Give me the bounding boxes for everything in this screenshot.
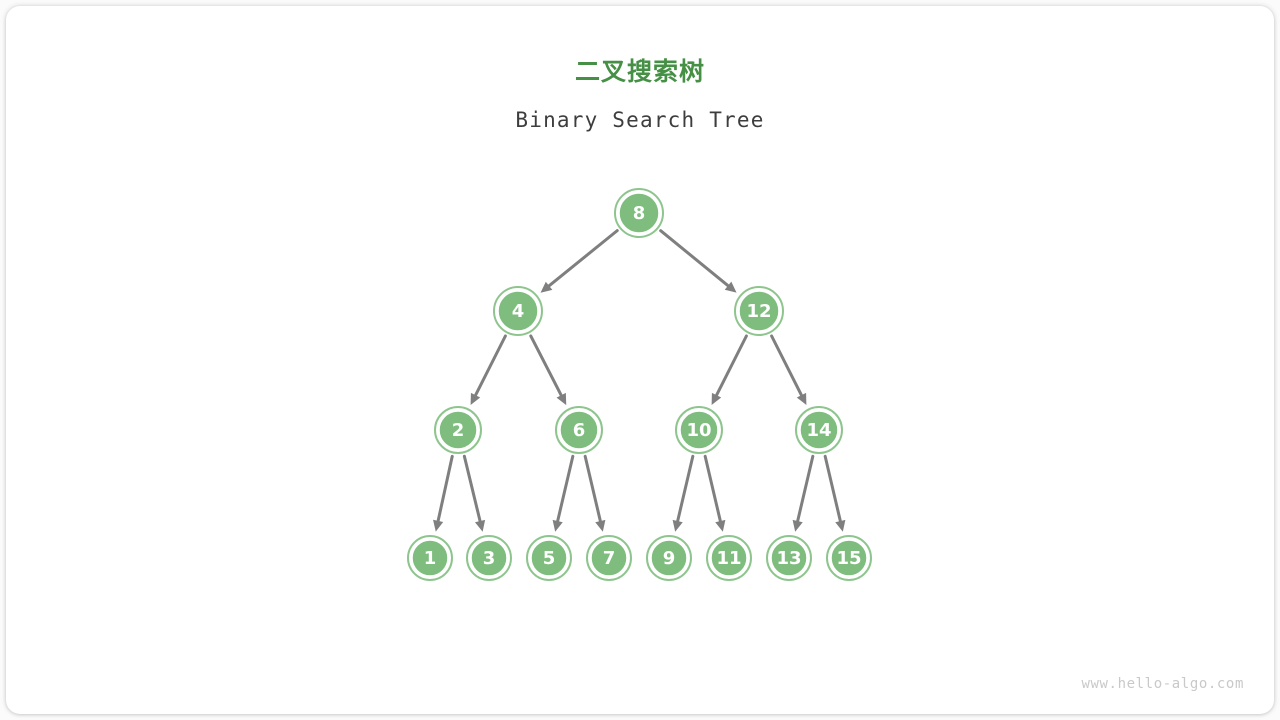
tree-edge bbox=[825, 456, 845, 531]
tree-node-13[interactable]: 13 bbox=[767, 536, 811, 580]
tree-node-label: 1 bbox=[424, 548, 437, 569]
tree-edge bbox=[433, 456, 452, 531]
tree-node-4[interactable]: 4 bbox=[494, 287, 542, 335]
tree-edge bbox=[471, 336, 506, 405]
tree-edges-layer bbox=[433, 231, 845, 532]
tree-node-7[interactable]: 7 bbox=[587, 536, 631, 580]
tree-node-label: 10 bbox=[686, 420, 711, 441]
tree-edge bbox=[464, 456, 485, 532]
tree-edge bbox=[541, 231, 618, 293]
tree-node-label: 11 bbox=[716, 548, 741, 569]
tree-node-label: 6 bbox=[573, 420, 586, 441]
tree-edge bbox=[793, 456, 813, 531]
tree-node-label: 4 bbox=[512, 301, 525, 322]
tree-node-label: 13 bbox=[776, 548, 801, 569]
tree-edge bbox=[585, 456, 605, 531]
tree-node-label: 8 bbox=[633, 203, 646, 224]
tree-node-12[interactable]: 12 bbox=[735, 287, 783, 335]
tree-edge bbox=[772, 336, 807, 405]
tree-node-label: 15 bbox=[836, 548, 861, 569]
tree-edge-arrowhead bbox=[475, 520, 485, 532]
tree-node-label: 3 bbox=[483, 548, 496, 569]
binary-search-tree-diagram: 841226101413579111315 bbox=[0, 0, 1280, 720]
tree-node-5[interactable]: 5 bbox=[527, 536, 571, 580]
tree-node-3[interactable]: 3 bbox=[467, 536, 511, 580]
tree-node-15[interactable]: 15 bbox=[827, 536, 871, 580]
tree-edge-arrowhead bbox=[595, 520, 605, 532]
tree-edge bbox=[553, 456, 573, 531]
tree-node-label: 12 bbox=[746, 301, 771, 322]
tree-edge-arrowhead bbox=[715, 520, 725, 532]
tree-node-8[interactable]: 8 bbox=[615, 189, 663, 237]
tree-edge bbox=[712, 336, 747, 405]
watermark-text: www.hello-algo.com bbox=[1081, 676, 1244, 692]
tree-node-label: 7 bbox=[603, 548, 616, 569]
tree-edge bbox=[661, 231, 737, 293]
tree-node-6[interactable]: 6 bbox=[556, 407, 602, 453]
tree-node-1[interactable]: 1 bbox=[408, 536, 452, 580]
tree-edge bbox=[705, 456, 725, 531]
tree-edge-arrowhead bbox=[793, 520, 803, 532]
tree-node-14[interactable]: 14 bbox=[796, 407, 842, 453]
figure-canvas: 二叉搜索树 Binary Search Tree 841226101413579… bbox=[0, 0, 1280, 720]
tree-node-label: 9 bbox=[663, 548, 676, 569]
tree-edge bbox=[673, 456, 693, 531]
tree-node-label: 5 bbox=[543, 548, 556, 569]
tree-node-2[interactable]: 2 bbox=[435, 407, 481, 453]
tree-edge-arrowhead bbox=[433, 520, 443, 532]
tree-node-label: 2 bbox=[452, 420, 465, 441]
tree-edge bbox=[531, 336, 566, 405]
tree-nodes-layer: 841226101413579111315 bbox=[408, 189, 871, 580]
tree-edge-arrowhead bbox=[673, 520, 683, 532]
tree-edge-arrowhead bbox=[553, 520, 563, 532]
tree-node-10[interactable]: 10 bbox=[676, 407, 722, 453]
tree-node-9[interactable]: 9 bbox=[647, 536, 691, 580]
tree-node-label: 14 bbox=[806, 420, 831, 441]
tree-edge-arrowhead bbox=[835, 520, 845, 532]
tree-node-11[interactable]: 11 bbox=[707, 536, 751, 580]
